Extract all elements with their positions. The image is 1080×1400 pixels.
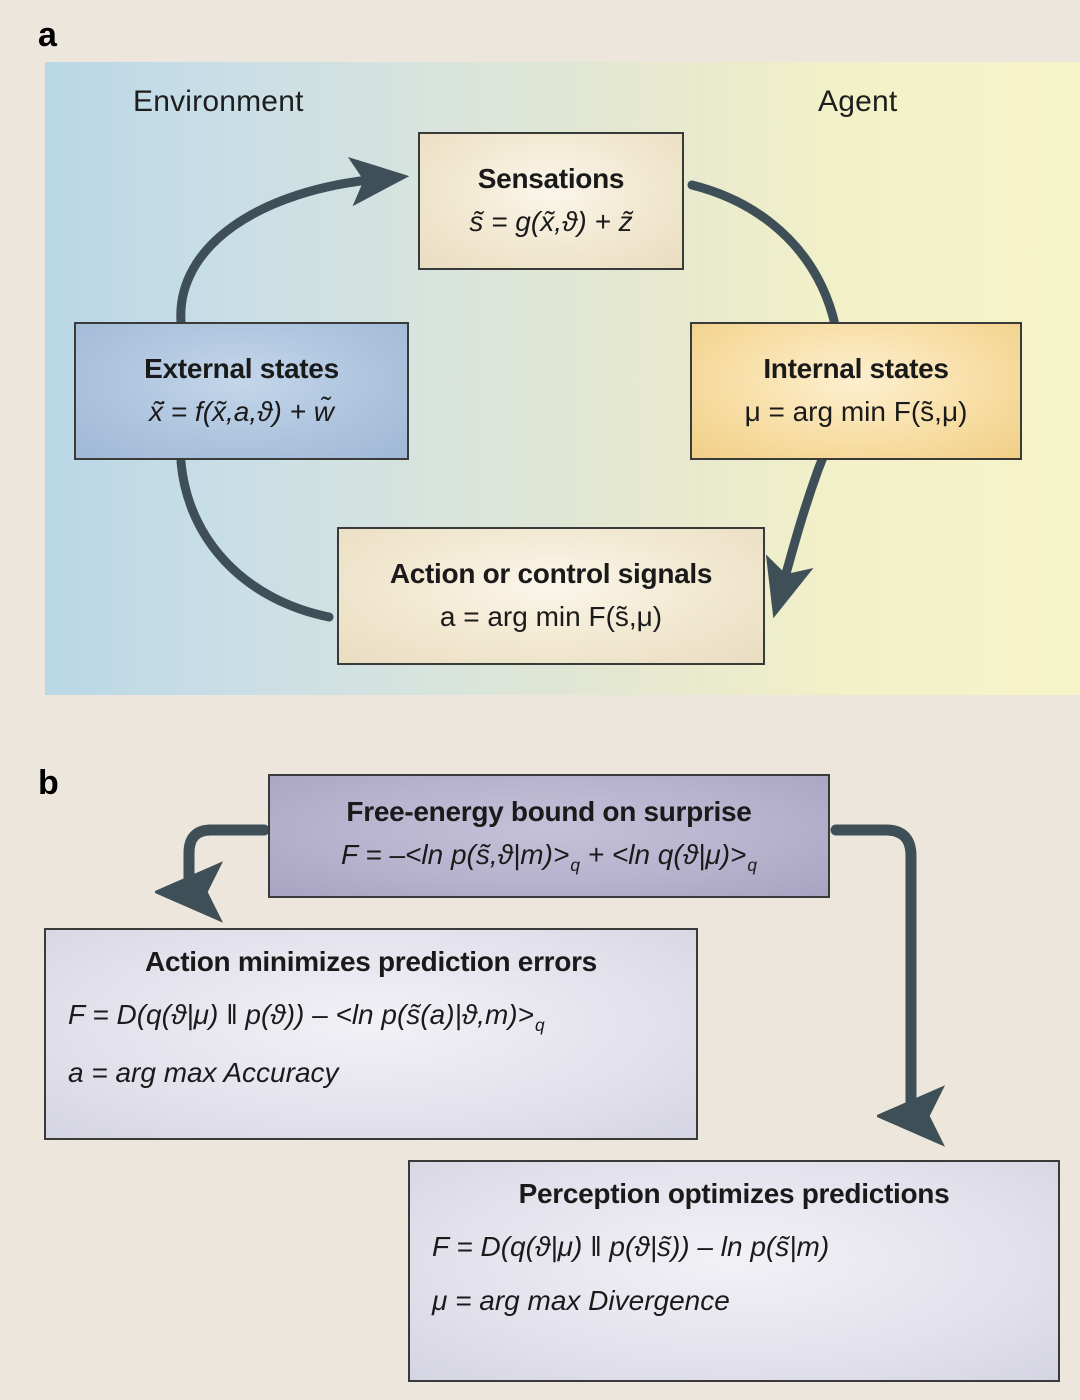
action-min-eq-prefix: F = D(q(ϑ|μ) ‖ p(ϑ)) – <ln p(s̃(a)|ϑ,m)> <box>68 999 534 1030</box>
panel-label-a: a <box>38 18 57 52</box>
box-internal-states-title: Internal states <box>763 353 948 385</box>
box-action-minimizes-equation-2: a = arg max Accuracy <box>68 1056 339 1090</box>
box-free-energy-equation: F = –<ln p(s̃,ϑ|m)>q + <ln q(ϑ|μ)>q <box>341 838 757 876</box>
box-perception-equation-1: F = D(q(ϑ|μ) ‖ p(ϑ|s̃)) – ln p(s̃|m) <box>432 1230 829 1264</box>
box-action-minimizes-title: Action minimizes prediction errors <box>68 946 674 978</box>
free-energy-eq-sub1: q <box>570 855 580 875</box>
box-internal-states[interactable]: Internal states μ = arg min F(s̃,μ) <box>690 322 1022 460</box>
box-external-states[interactable]: External states x̃̇ = f(x̃,a,ϑ) + w̃ <box>74 322 409 460</box>
box-perception-equation-2: μ = arg max Divergence <box>432 1284 730 1318</box>
agent-label: Agent <box>818 85 897 119</box>
box-action-equation: a = arg min F(s̃,μ) <box>440 600 662 634</box>
box-action-control-signals[interactable]: Action or control signals a = arg min F(… <box>337 527 765 665</box>
box-sensations-equation: s̃ = g(x̃,ϑ) + z̃ <box>469 205 632 239</box>
box-sensations-title: Sensations <box>478 163 624 195</box>
box-action-minimizes-prediction-errors[interactable]: Action minimizes prediction errors F = D… <box>44 928 698 1140</box>
arrow-free-energy-to-action <box>189 830 264 892</box>
box-external-states-title: External states <box>144 353 339 385</box>
box-internal-states-equation: μ = arg min F(s̃,μ) <box>745 395 968 429</box>
action-min-eq-sub: q <box>535 1015 545 1035</box>
box-free-energy-bound[interactable]: Free-energy bound on surprise F = –<ln p… <box>268 774 830 898</box>
box-action-title: Action or control signals <box>390 558 712 590</box>
arrow-free-energy-to-perception <box>836 830 911 1116</box>
free-energy-eq-prefix: F = –<ln p(s̃,ϑ|m)> <box>341 839 569 870</box>
box-external-states-equation: x̃̇ = f(x̃,a,ϑ) + w̃ <box>149 395 334 429</box>
free-energy-eq-sub2: q <box>747 855 757 875</box>
box-perception-optimizes-title: Perception optimizes predictions <box>432 1178 1036 1210</box>
box-sensations[interactable]: Sensations s̃ = g(x̃,ϑ) + z̃ <box>418 132 684 270</box>
environment-label: Environment <box>133 85 304 119</box>
free-energy-eq-mid: + <ln q(ϑ|μ)> <box>580 839 746 870</box>
box-action-minimizes-equation-1: F = D(q(ϑ|μ) ‖ p(ϑ)) – <ln p(s̃(a)|ϑ,m)>… <box>68 998 545 1036</box>
box-perception-optimizes-predictions[interactable]: Perception optimizes predictions F = D(q… <box>408 1160 1060 1382</box>
panel-label-b: b <box>38 766 59 800</box>
box-free-energy-title: Free-energy bound on surprise <box>346 796 751 828</box>
